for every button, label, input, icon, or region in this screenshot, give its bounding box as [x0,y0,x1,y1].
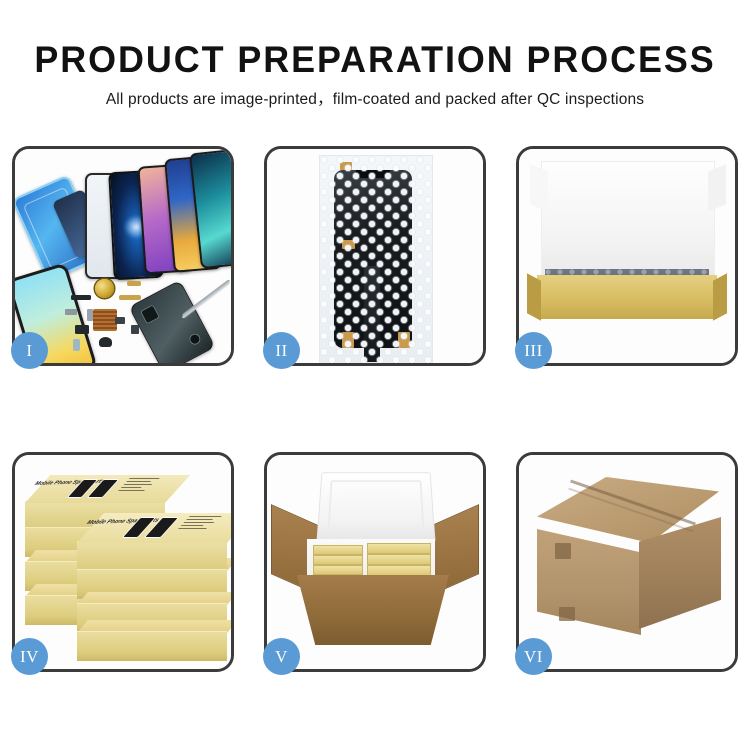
carton-flap-tab [555,543,571,559]
step-badge-5: V [263,638,300,675]
header: PRODUCT PREPARATION PROCESS All products… [0,0,750,110]
steps-grid: I II [12,146,738,706]
step-image-6 [519,455,735,669]
white-foam-sheet [541,161,715,285]
bracket-part [87,309,93,321]
step-panel-3: III [516,146,738,366]
inner-yellow-box [367,554,431,565]
step-image-2 [267,149,483,363]
step-badge-2: II [263,332,300,369]
chip-part [75,325,89,334]
ic-part [131,325,139,334]
inner-yellow-box [367,565,431,576]
step-image-5 [267,455,483,669]
product-preparation-infographic: PRODUCT PREPARATION PROCESS All products… [0,0,750,750]
inner-yellow-box [367,543,431,554]
step-badge-4: IV [11,638,48,675]
inner-yellow-box [313,545,363,555]
inner-yellow-box [313,555,363,565]
step-badge-1: I [11,332,48,369]
foam-lid [316,472,435,543]
box-stack: Mobile Phone Spare Parts Mobile Phone Sp… [21,471,231,661]
bubble-wrap-bag [319,155,433,363]
copper-shield-part [93,309,117,331]
inner-yellow-box [313,565,363,575]
step-panel-4: Mobile Phone Spare Parts Mobile Phone Sp… [12,452,234,672]
stacked-box-printed: Mobile Phone Spare Parts [77,541,227,569]
step-panel-1: I [12,146,234,366]
tweezers-tool [182,274,230,323]
step-panel-2: II [264,146,486,366]
step-image-1 [15,149,231,363]
sim-tray-part [73,339,80,351]
speaker-coil-part [95,279,114,298]
carton-body [297,575,449,645]
flex-cable-part [119,295,141,300]
chip-part [71,295,91,300]
carton-front-face [537,529,641,635]
flex-cable-part [127,281,141,286]
step-panel-5: V [264,452,486,672]
step-image-4: Mobile Phone Spare Parts Mobile Phone Sp… [15,455,231,669]
page-subtitle: All products are image-printed，film-coat… [0,90,750,110]
step-badge-3: III [515,332,552,369]
bubble-texture-front [320,156,432,363]
step-panel-6: VI [516,452,738,672]
buzzer-part [99,337,112,347]
kraft-inner-box [537,275,717,319]
page-title: PRODUCT PREPARATION PROCESS [11,40,739,80]
step-image-3 [519,149,735,363]
stacked-box [77,631,227,661]
bracket-part [65,309,77,315]
carton-flap-tab [559,607,575,621]
step-badge-6: VI [515,638,552,675]
ic-part [115,317,125,324]
